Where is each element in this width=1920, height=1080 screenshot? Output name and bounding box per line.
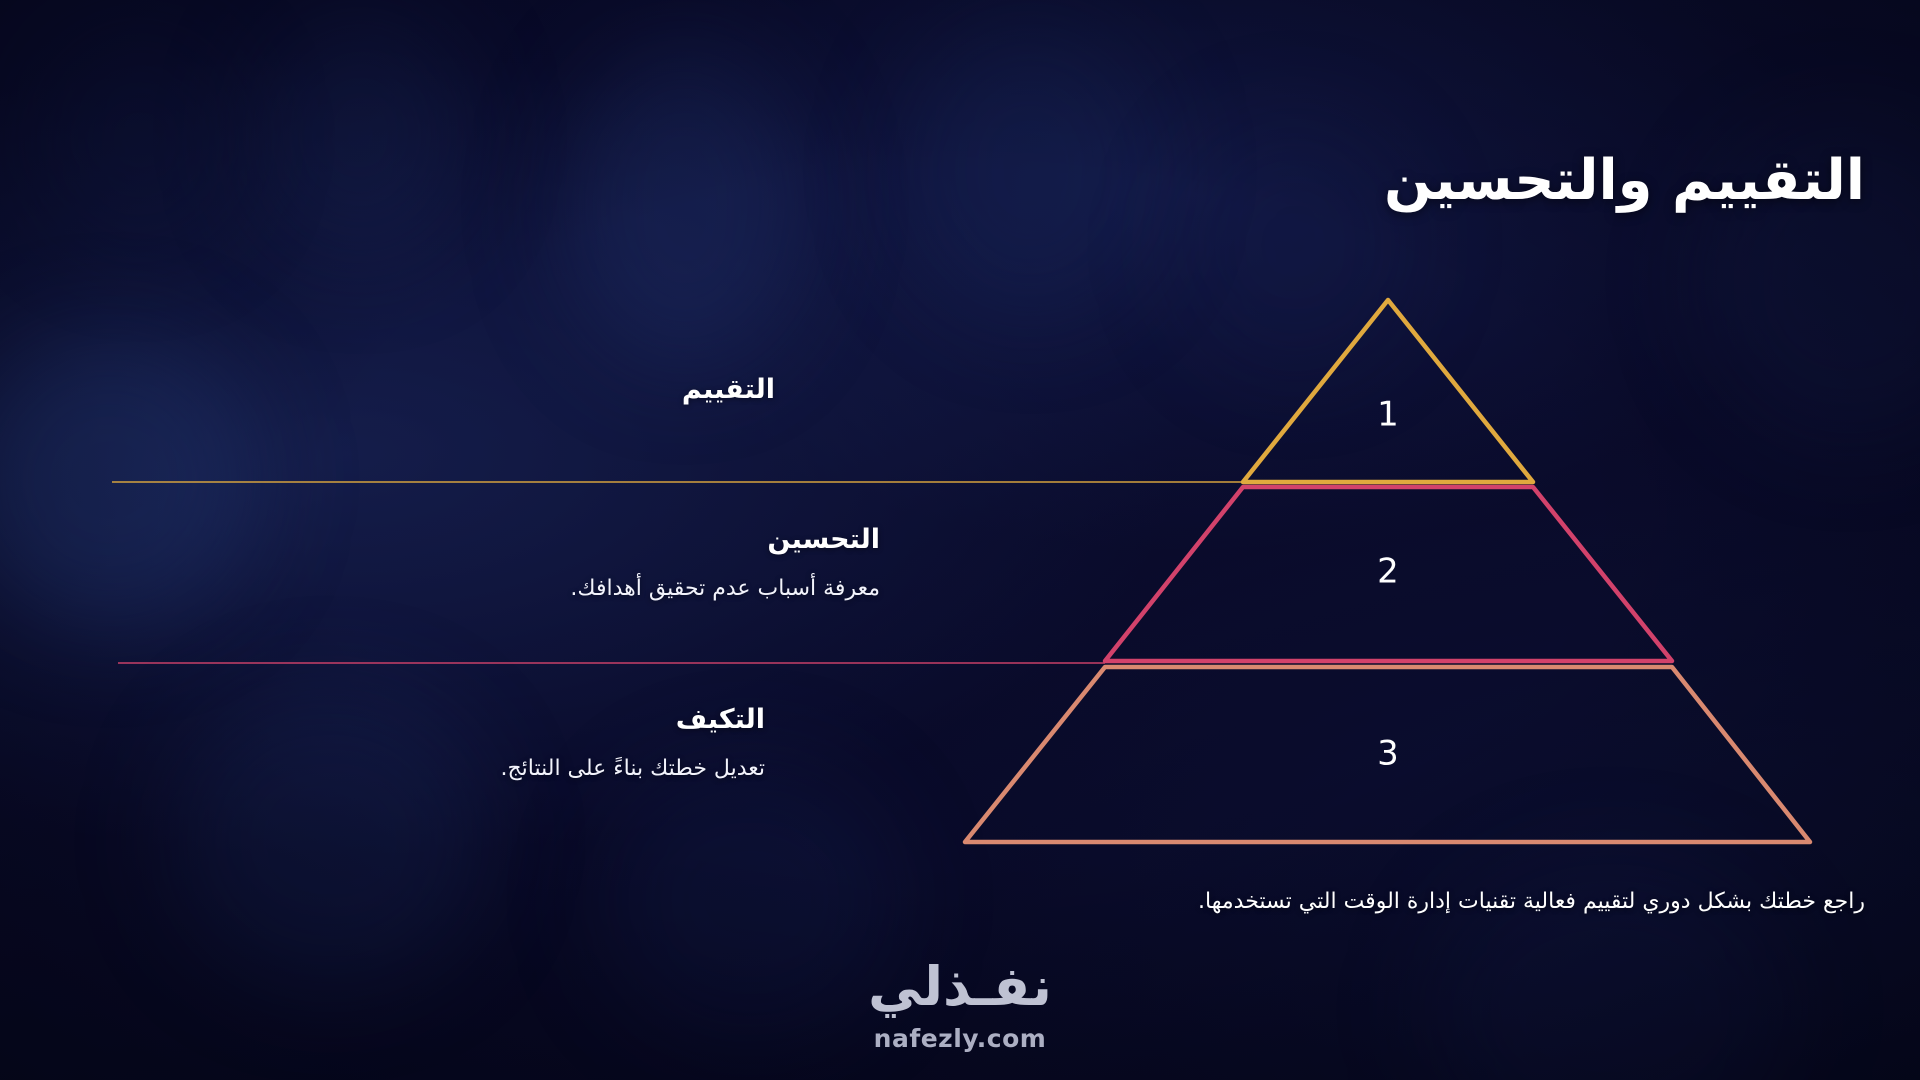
tier-2-outline: [1105, 487, 1672, 661]
tier-3-label-group: التكيف تعديل خطتك بناءً على النتائج.: [315, 702, 765, 785]
brand-logo: نفـذلي nafezly.com: [868, 960, 1052, 1053]
slide-caption: راجع خطتك بشكل دوري لتقييم فعالية تقنيات…: [365, 885, 1865, 918]
tier-1-outline: [1243, 300, 1533, 482]
brand-logo-domain: nafezly.com: [868, 1024, 1052, 1053]
background-bokeh-blob: [40, 30, 240, 250]
pyramid-tier-3: 3: [965, 667, 1810, 842]
tier-3-number: 3: [1377, 734, 1399, 774]
tier-1-heading: التقييم: [355, 372, 775, 407]
tier-2-heading: التحسين: [400, 522, 880, 557]
slide-title: التقييم والتحسين: [765, 148, 1865, 214]
tier-3-outline: [965, 667, 1810, 842]
pyramid-tier-2: 2: [118, 487, 1672, 663]
tier-3-description: تعديل خطتك بناءً على النتائج.: [315, 753, 765, 785]
slide-canvas: التقييم والتحسين 1 2 3 التقييم: [0, 0, 1920, 1080]
tier-2-description: معرفة أسباب عدم تحقيق أهدافك.: [400, 573, 880, 605]
tier-1-label-group: التقييم: [355, 372, 775, 407]
background-bokeh-blob: [0, 330, 260, 630]
background-bokeh-blob: [250, 10, 470, 260]
tier-2-label-group: التحسين معرفة أسباب عدم تحقيق أهدافك.: [400, 522, 880, 605]
brand-logo-wordmark: نفـذلي: [868, 960, 1052, 1014]
tier-1-number: 1: [1377, 395, 1399, 435]
tier-3-heading: التكيف: [315, 702, 765, 737]
tier-2-number: 2: [1377, 552, 1399, 592]
pyramid-tier-1: 1: [112, 300, 1533, 482]
